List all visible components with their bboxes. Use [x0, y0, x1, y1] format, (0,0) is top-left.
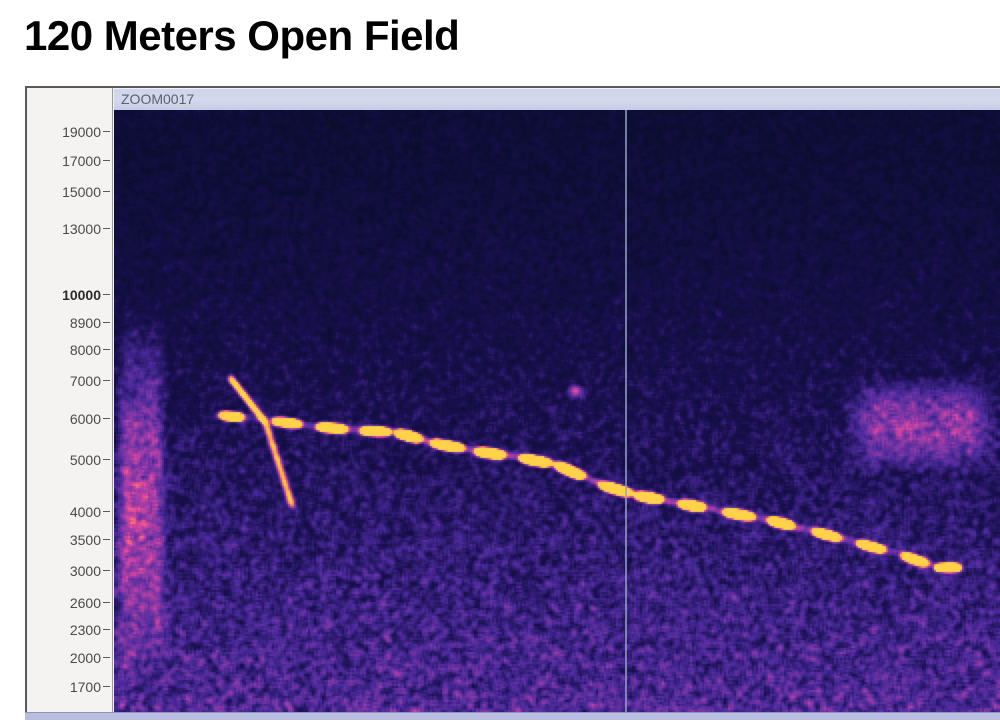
- y-axis-tick-7000: 7000: [70, 373, 110, 387]
- spectrogram-image: [114, 110, 1000, 714]
- y-axis-tick-label: 13000: [62, 222, 101, 236]
- y-axis-tick-6000: 6000: [70, 411, 110, 425]
- y-axis-tick-8900: 8900: [70, 315, 110, 329]
- y-axis-tick-17000: 17000: [62, 153, 110, 167]
- y-axis-tick-label: 3500: [70, 533, 101, 547]
- y-axis-tick-mark: [103, 570, 110, 571]
- frequency-axis-panel: 1900017000150001300010000890080007000600…: [27, 88, 113, 714]
- playhead-cursor-line[interactable]: [625, 110, 627, 714]
- y-axis-tick-3000: 3000: [70, 563, 110, 577]
- y-axis-tick-13000: 13000: [62, 221, 110, 235]
- y-axis-tick-mark: [103, 511, 110, 512]
- y-axis-tick-mark: [103, 459, 110, 460]
- y-axis-tick-label: 2600: [70, 596, 101, 610]
- horizontal-scrollbar[interactable]: [25, 712, 1000, 720]
- y-axis-tick-5000: 5000: [70, 452, 110, 466]
- y-axis-tick-mark: [103, 160, 110, 161]
- y-axis-tick-8000: 8000: [70, 342, 110, 356]
- y-axis-tick-label: 17000: [62, 154, 101, 168]
- y-axis-tick-2000: 2000: [70, 650, 110, 664]
- y-axis-tick-3500: 3500: [70, 532, 110, 546]
- y-axis-tick-mark: [103, 322, 110, 323]
- y-axis-tick-label: 15000: [62, 185, 101, 199]
- y-axis-tick-mark: [103, 191, 110, 192]
- y-axis-tick-mark: [103, 131, 110, 132]
- y-axis-tick-mark: [103, 602, 110, 603]
- y-axis-tick-4000: 4000: [70, 504, 110, 518]
- titlebar-filename-label: ZOOM0017: [121, 91, 194, 107]
- y-axis-tick-1700: 1700: [70, 679, 110, 693]
- y-axis-tick-label: 8000: [70, 343, 101, 357]
- y-axis-tick-label: 1700: [70, 680, 101, 694]
- y-axis-tick-mark: [103, 294, 110, 295]
- y-axis-tick-mark: [103, 349, 110, 350]
- window-titlebar[interactable]: ZOOM0017: [114, 88, 1000, 110]
- y-axis-tick-label: 2300: [70, 623, 101, 637]
- y-axis-tick-mark: [103, 629, 110, 630]
- y-axis-tick-19000: 19000: [62, 124, 110, 138]
- y-axis-tick-mark: [103, 686, 110, 687]
- y-axis-tick-label: 19000: [62, 125, 101, 139]
- y-axis-tick-15000: 15000: [62, 184, 110, 198]
- y-axis-tick-label: 5000: [70, 453, 101, 467]
- y-axis-tick-label: 6000: [70, 412, 101, 426]
- y-axis-tick-mark: [103, 228, 110, 229]
- y-axis-tick-mark: [103, 380, 110, 381]
- y-axis-tick-label: 3000: [70, 564, 101, 578]
- y-axis-tick-10000: 10000: [62, 287, 110, 301]
- y-axis-tick-2300: 2300: [70, 622, 110, 636]
- y-axis-tick-2600: 2600: [70, 595, 110, 609]
- page-title: 120 Meters Open Field: [24, 12, 459, 60]
- y-axis-tick-label: 8900: [70, 316, 101, 330]
- y-axis-tick-mark: [103, 657, 110, 658]
- y-axis-tick-label: 7000: [70, 374, 101, 388]
- y-axis-tick-label: 2000: [70, 651, 101, 665]
- y-axis-tick-mark: [103, 418, 110, 419]
- y-axis-tick-mark: [103, 539, 110, 540]
- y-axis-tick-label: 10000: [62, 288, 101, 302]
- spectrogram-window: 1900017000150001300010000890080007000600…: [25, 86, 1000, 718]
- spectrogram-plot-area[interactable]: [114, 110, 1000, 714]
- y-axis-tick-label: 4000: [70, 505, 101, 519]
